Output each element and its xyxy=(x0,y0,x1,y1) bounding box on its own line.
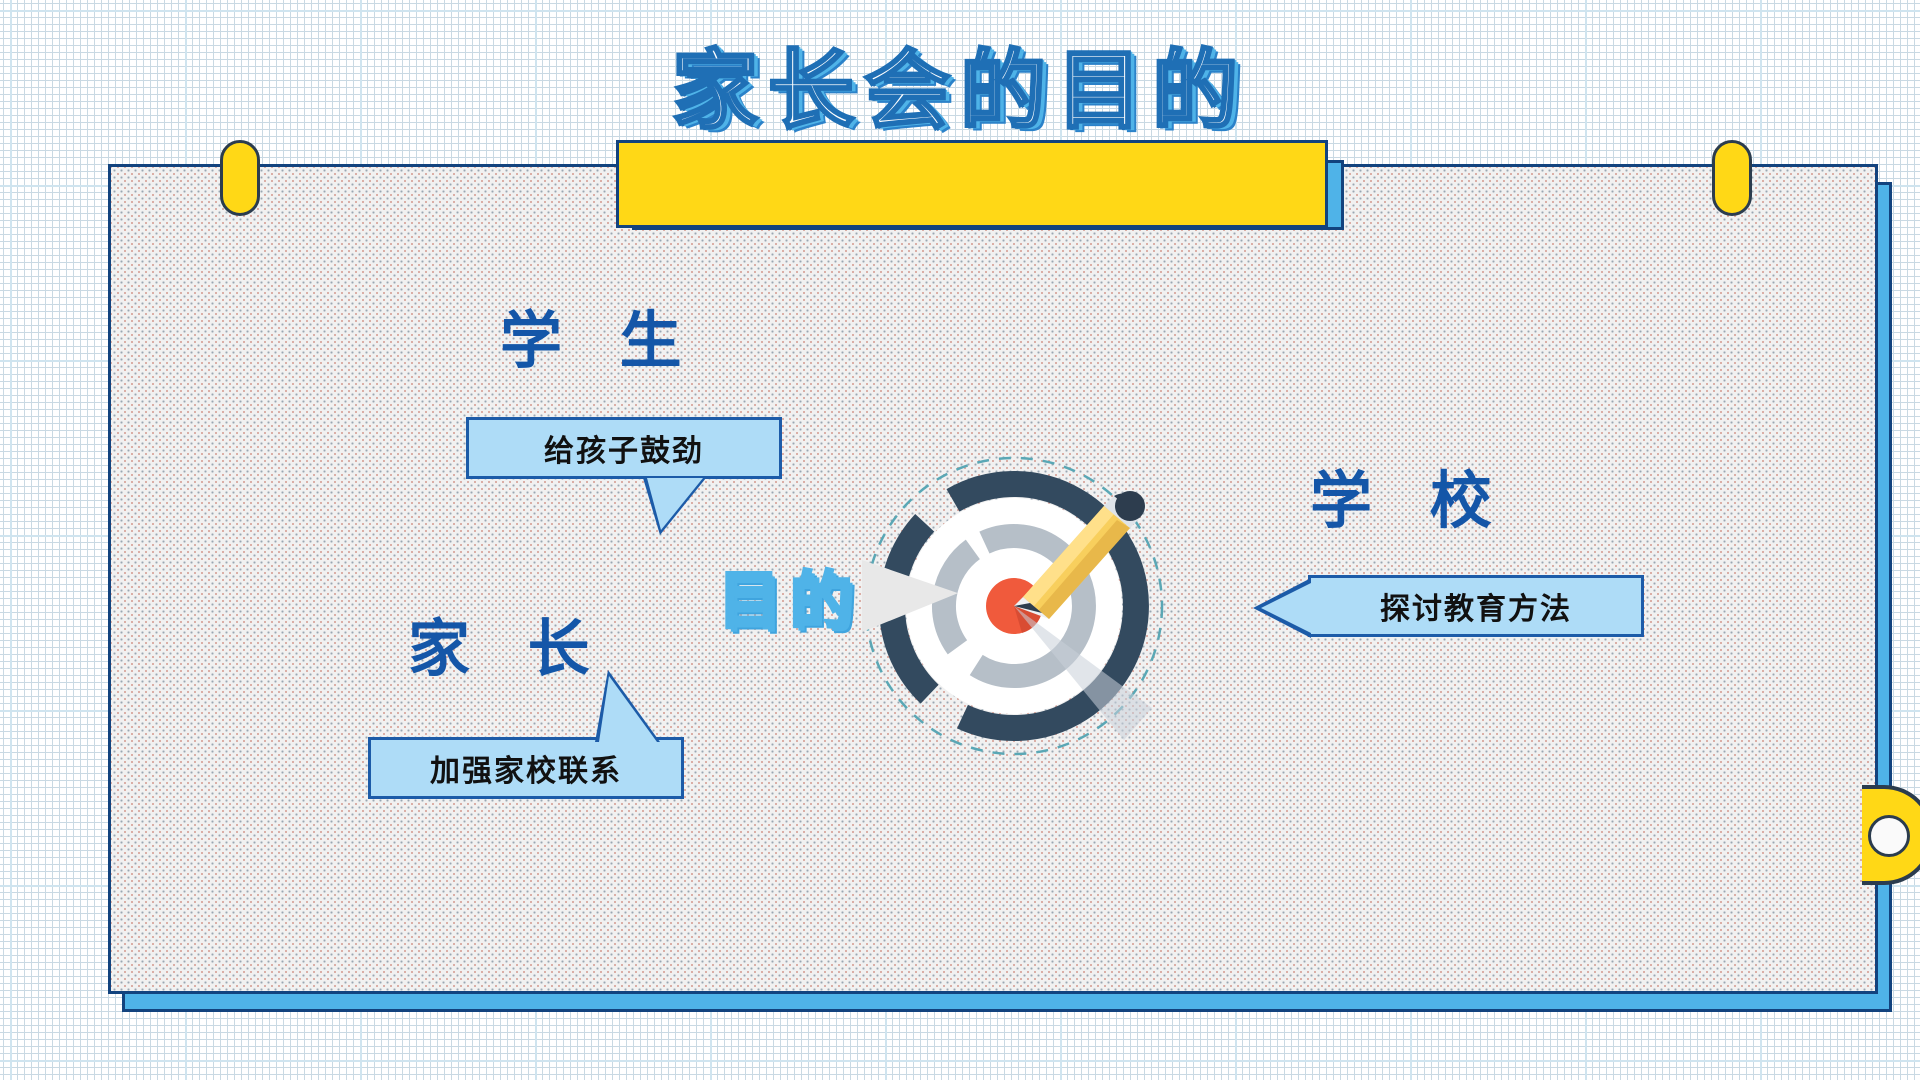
callout-student[interactable]: 给孩子鼓劲 xyxy=(466,417,782,479)
callout-parent-tail xyxy=(599,676,657,742)
callout-parent[interactable]: 加强家校联系 xyxy=(368,737,684,799)
callout-student-label: 给孩子鼓劲 xyxy=(544,426,704,470)
callout-school-label: 探讨教育方法 xyxy=(1380,584,1572,628)
callout-school-tail xyxy=(1261,582,1313,634)
title-banner xyxy=(616,140,1328,228)
binder-clip-right-icon xyxy=(1712,140,1752,216)
category-heading-school: 学 校 xyxy=(1310,470,1510,532)
center-label: 目的 xyxy=(718,570,862,632)
callout-school[interactable]: 探讨教育方法 xyxy=(1308,575,1644,637)
page-title: 家长会的目的 xyxy=(0,48,1920,134)
binder-clip-left-icon xyxy=(220,140,260,216)
slide-canvas: 家长会的目的 学 生 家 长 学 校 给孩子鼓劲 加强家校联系 探讨教育方法 xyxy=(0,0,1920,1080)
pencil-eraser-cap xyxy=(1115,491,1145,521)
callout-parent-label: 加强家校联系 xyxy=(430,746,622,790)
round-tab-icon[interactable] xyxy=(1862,785,1920,885)
category-heading-student: 学 生 xyxy=(500,310,700,372)
category-heading-parent: 家 长 xyxy=(408,618,608,680)
callout-student-tail xyxy=(647,478,703,530)
round-tab-hole-icon xyxy=(1868,815,1910,857)
